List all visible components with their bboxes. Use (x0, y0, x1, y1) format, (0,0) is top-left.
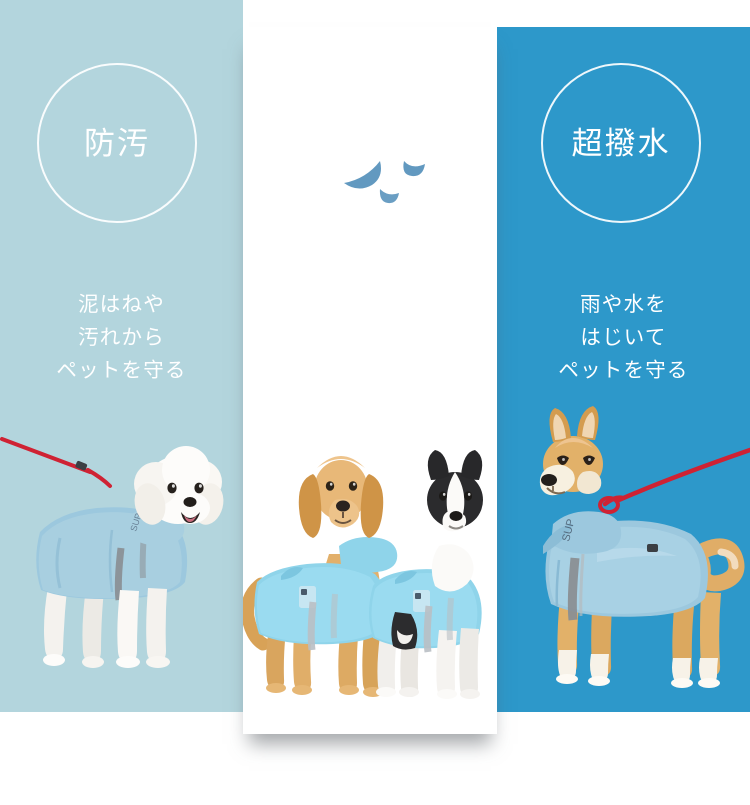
description-anti-stain: 泥はねや 汚れから ペットを守る (0, 288, 243, 388)
badge-super-water-repellent-label: 超撥水 (572, 128, 671, 159)
photo-retriever-collie (243, 434, 497, 734)
panel-anti-stain: 防汚 泥はねや 汚れから ペットを守る (0, 0, 243, 712)
panel-shield-coat: シールドコート 加工で楽しく おでかけ (243, 27, 497, 734)
badge-anti-stain: 防汚 (37, 63, 197, 223)
feature-banner: 防汚 泥はねや 汚れから ペットを守る (0, 0, 750, 805)
photo-bichon-frise: SUP (0, 412, 243, 712)
description-shield-coat: シールドコート 加工で楽しく おでかけ (243, 288, 497, 388)
photo-shiba-inu: SUP (497, 392, 750, 712)
water-repellent-icon (280, 55, 460, 235)
badge-anti-stain-label: 防汚 (84, 128, 150, 159)
description-super-water-repellent: 雨や水を はじいて ペットを守る (497, 288, 750, 388)
badge-super-water-repellent: 超撥水 (541, 63, 701, 223)
panel-super-water-repellent: 超撥水 雨や水を はじいて ペットを守る (497, 27, 750, 712)
